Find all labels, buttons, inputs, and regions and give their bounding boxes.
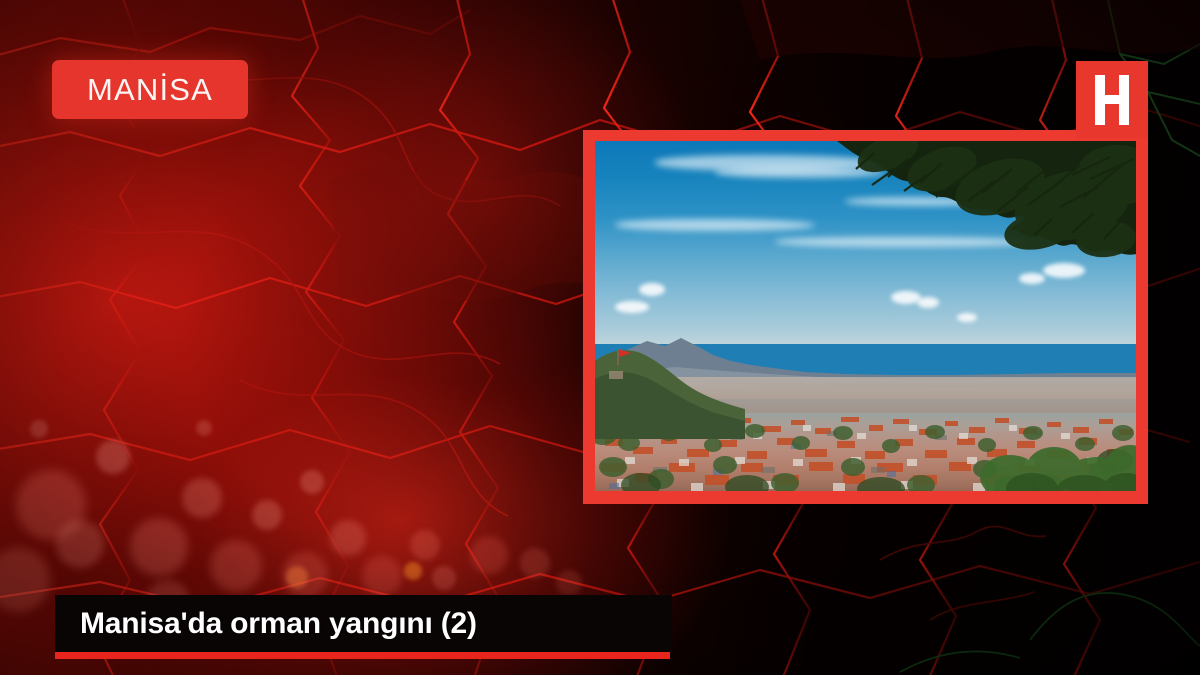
headline-underline <box>55 652 670 659</box>
foreground-shrub <box>980 421 1136 491</box>
headline-text: Manisa'da orman yangını (2) <box>55 607 477 641</box>
left-hillside <box>595 319 745 439</box>
brand-logo <box>1076 61 1148 138</box>
pine-branch-foliage <box>822 141 1136 285</box>
city-badge: MANİSA <box>52 60 248 119</box>
letter-h-icon <box>1095 75 1129 125</box>
manisa-cityscape-photo <box>595 141 1136 491</box>
photo-frame <box>583 130 1148 504</box>
headline-bar: Manisa'da orman yangını (2) <box>55 595 672 652</box>
news-card: MANİSA <box>0 0 1200 675</box>
city-badge-label: MANİSA <box>87 74 213 105</box>
